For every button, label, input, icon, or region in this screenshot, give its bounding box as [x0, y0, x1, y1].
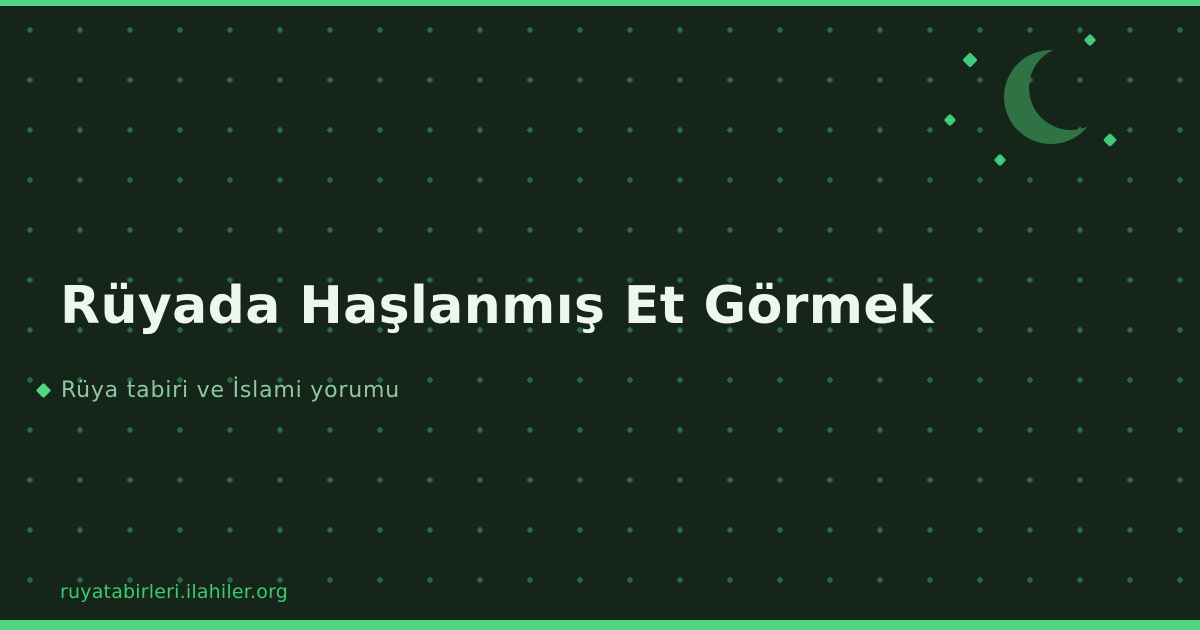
star-icon — [1126, 576, 1133, 583]
star-icon — [1126, 76, 1133, 83]
star-icon — [26, 176, 33, 183]
subtitle-row: Rüya tabiri ve İslami yorumu — [38, 378, 400, 403]
star-icon — [1176, 476, 1183, 483]
star-icon — [1076, 576, 1083, 583]
star-icon — [1126, 226, 1133, 233]
star-icon — [1076, 426, 1083, 433]
star-icon — [1126, 326, 1133, 333]
star-icon — [1176, 176, 1183, 183]
star-icon — [1126, 426, 1133, 433]
star-icon — [1176, 426, 1183, 433]
star-icon — [1076, 526, 1083, 533]
card-content: Rüyada Haşlanmış Et Görmek Rüya tabiri v… — [60, 0, 1060, 630]
star-icon — [1084, 34, 1097, 47]
star-icon — [1176, 376, 1183, 383]
star-icon — [1076, 26, 1083, 33]
star-icon — [1126, 26, 1133, 33]
star-icon — [1176, 576, 1183, 583]
bottom-accent-bar — [0, 620, 1200, 630]
star-icon — [1126, 176, 1133, 183]
star-icon — [1076, 326, 1083, 333]
star-icon — [26, 476, 33, 483]
star-icon — [26, 26, 33, 33]
star-icon — [1176, 226, 1183, 233]
star-icon — [1176, 526, 1183, 533]
star-icon — [1126, 526, 1133, 533]
star-icon — [1176, 126, 1183, 133]
star-icon — [26, 276, 33, 283]
star-icon — [1176, 76, 1183, 83]
star-icon — [1126, 276, 1133, 283]
star-icon — [1103, 133, 1117, 147]
star-icon — [1126, 476, 1133, 483]
star-icon — [1176, 276, 1183, 283]
footer-site-url: ruyatabirleri.ilahiler.org — [60, 581, 288, 603]
diamond-bullet-icon — [36, 383, 52, 399]
star-icon — [26, 326, 33, 333]
page-title: Rüyada Haşlanmış Et Görmek — [60, 278, 934, 334]
star-icon — [1076, 176, 1083, 183]
star-icon — [26, 376, 33, 383]
star-icon — [26, 126, 33, 133]
star-icon — [1076, 476, 1083, 483]
star-icon — [1126, 376, 1133, 383]
star-icon — [26, 426, 33, 433]
star-icon — [1076, 226, 1083, 233]
star-icon — [26, 76, 33, 83]
star-icon — [1076, 376, 1083, 383]
subtitle-text: Rüya tabiri ve İslami yorumu — [61, 378, 400, 403]
star-icon — [1176, 326, 1183, 333]
social-share-card: Rüyada Haşlanmış Et Görmek Rüya tabiri v… — [0, 0, 1200, 630]
star-icon — [26, 576, 33, 583]
star-icon — [26, 526, 33, 533]
star-icon — [1126, 126, 1133, 133]
star-icon — [26, 226, 33, 233]
star-icon — [1076, 276, 1083, 283]
star-icon — [1176, 26, 1183, 33]
